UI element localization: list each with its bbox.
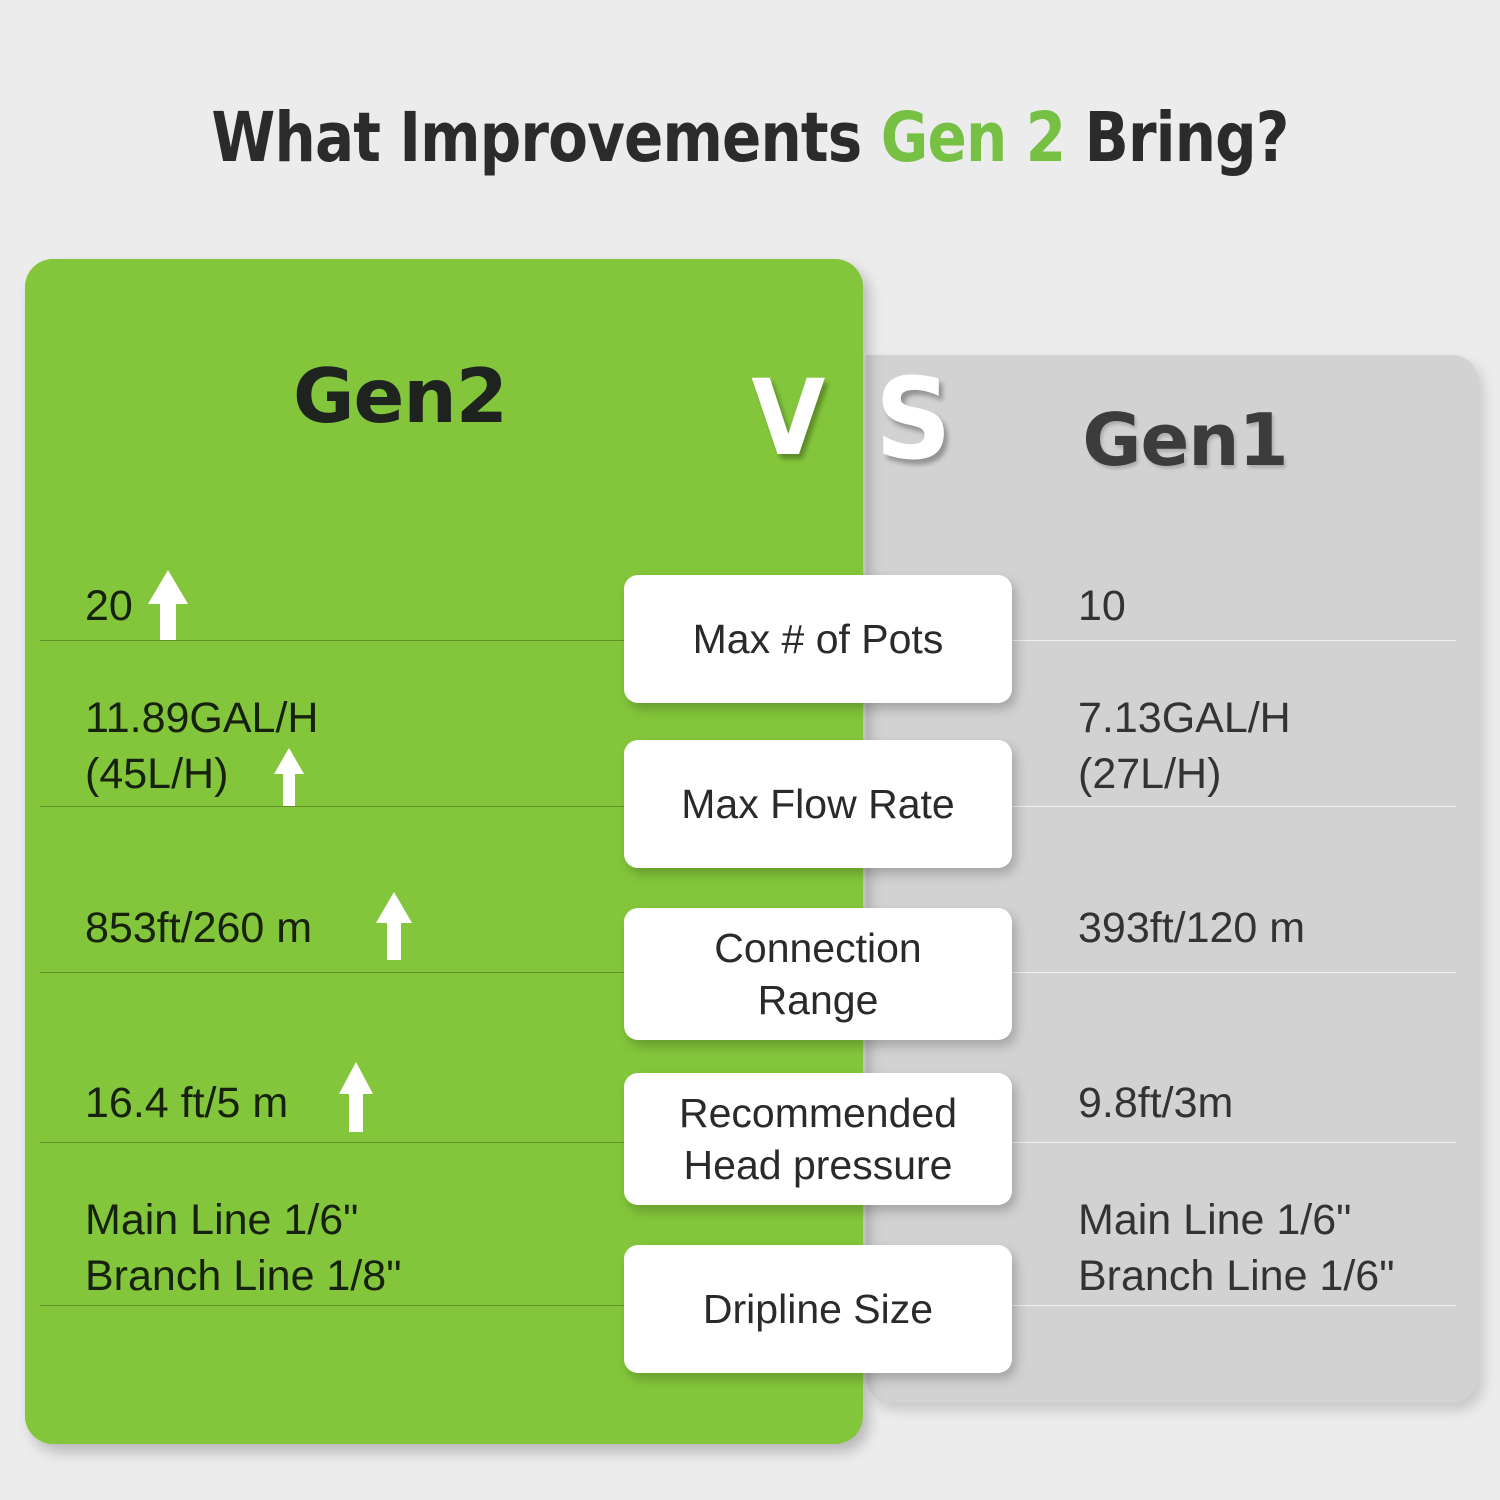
row-label-max-pots: Max # of Pots [624, 575, 1012, 703]
improvement-arrow-icon [337, 1060, 375, 1134]
page-title: What Improvements Gen 2 Bring? [120, 98, 1380, 178]
gen1-value-connection-range: 393ft/120 m [1078, 900, 1305, 956]
gen1-value-dripline-size: Main Line 1/6" Branch Line 1/6" [1078, 1192, 1394, 1304]
gen2-column-heading: Gen2 [170, 352, 630, 440]
gen1-column-heading: Gen1 [1000, 398, 1370, 482]
improvement-arrow-icon [272, 746, 306, 808]
gen1-value-head-pressure: 9.8ft/3m [1078, 1075, 1233, 1131]
row-label-head-pressure: Recommended Head pressure [624, 1073, 1012, 1205]
versus-letter-v: V [751, 366, 825, 470]
gen2-value-head-pressure: 16.4 ft/5 m [85, 1075, 288, 1131]
gen2-value-dripline-size: Main Line 1/6" Branch Line 1/8" [85, 1192, 401, 1304]
row-label-connection-range: Connection Range [624, 908, 1012, 1040]
gen2-value-max-pots: 20 [85, 578, 133, 634]
row-label-dripline-size: Dripline Size [624, 1245, 1012, 1373]
title-suffix: Bring? [1065, 98, 1288, 178]
row-label-max-flow-rate: Max Flow Rate [624, 740, 1012, 868]
title-highlight: Gen 2 [881, 98, 1065, 178]
improvement-arrow-icon [146, 568, 190, 642]
gen1-value-max-flow-rate: 7.13GAL/H (27L/H) [1078, 690, 1291, 802]
versus-letter-s: S [875, 364, 952, 476]
title-prefix: What Improvements [211, 98, 880, 178]
improvement-arrow-icon [374, 890, 414, 962]
gen1-value-max-pots: 10 [1078, 578, 1126, 634]
gen2-value-connection-range: 853ft/260 m [85, 900, 312, 956]
